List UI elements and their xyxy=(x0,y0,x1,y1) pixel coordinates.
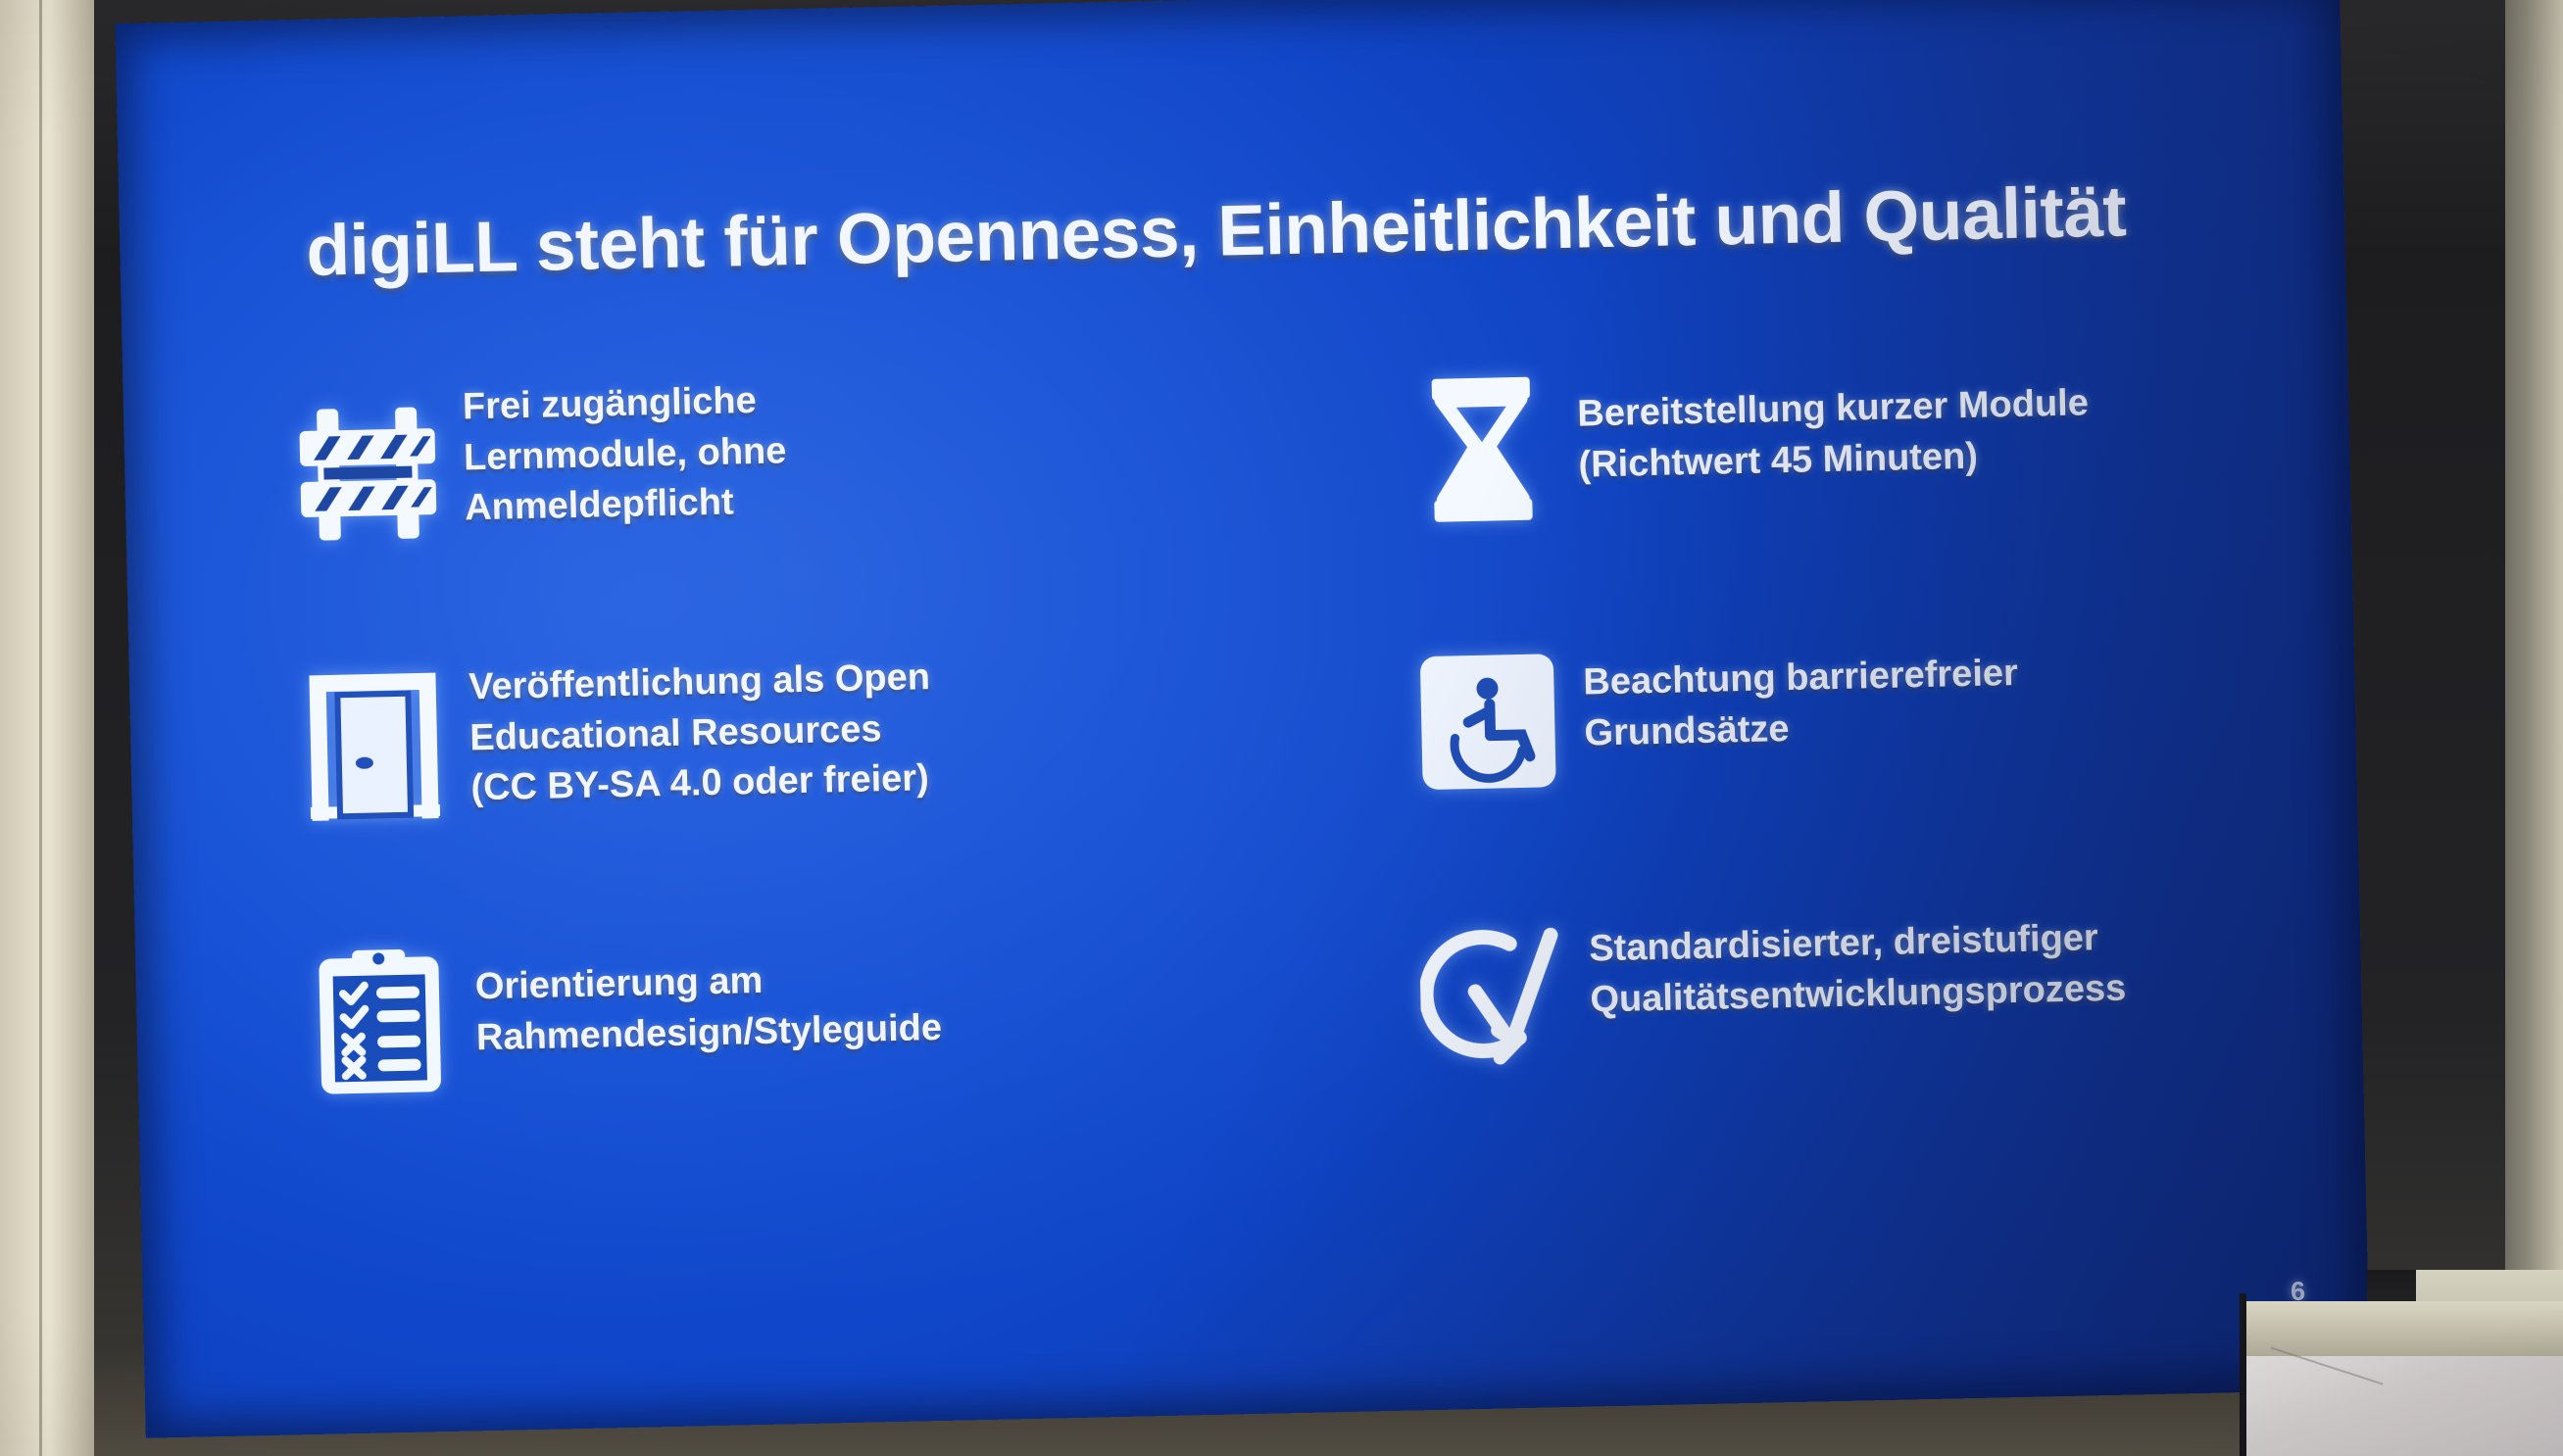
road-barrier-icon xyxy=(270,380,466,566)
feature-item-quality-process: Standardisierter, dreistufiger Qualitäts… xyxy=(1325,886,2296,1179)
feature-text: Beachtung barrierefreier Grundsätze xyxy=(1582,613,2288,759)
feature-text: Standardisierter, dreistufiger Qualitäts… xyxy=(1588,886,2293,1026)
feature-item-oer-license: Veröffentlichung als Open Educational Re… xyxy=(276,636,1248,929)
feature-item-open-access: Frei zugängliche Lernmodule, ohne Anmeld… xyxy=(270,364,1241,656)
feature-text: Frei zugängliche Lernmodule, ohne Anmeld… xyxy=(462,364,1238,534)
slide-canvas: digiLL steht für Openness, Einheitlichke… xyxy=(115,0,2370,1438)
flipchart-top-notch xyxy=(2367,1270,2563,1305)
slide-title: digiLL steht für Openness, Einheitlichke… xyxy=(306,170,2267,289)
cycle-checkmark-icon xyxy=(1396,901,1592,1088)
wall-seam xyxy=(39,0,42,1456)
clipboard-checklist-icon xyxy=(282,925,478,1111)
hourglass-icon xyxy=(1384,357,1580,543)
photo-of-presentation-screen: digiLL steht für Openness, Einheitlichke… xyxy=(0,0,2563,1456)
flipchart-foreground xyxy=(2240,1270,2563,1456)
room-wall-right xyxy=(2502,0,2563,1456)
feature-item-styleguide: Orientierung am Rahmendesign/Styleguide xyxy=(282,908,1254,1201)
feature-text: Orientierung am Rahmendesign/Styleguide xyxy=(474,908,1251,1064)
projected-slide: digiLL steht für Openness, Einheitlichke… xyxy=(115,0,2370,1438)
room-wall-left xyxy=(0,0,94,1456)
paper-fold-crease xyxy=(2257,1347,2384,1429)
feature-item-accessibility: Beachtung barrierefreier Grundsätze xyxy=(1319,613,2291,906)
flipchart-top-sheet xyxy=(2416,1270,2563,1305)
flipchart-paper xyxy=(2243,1356,2563,1456)
feature-grid: Frei zugängliche Lernmodule, ohne Anmeld… xyxy=(270,341,2296,1202)
flipchart-edge xyxy=(2240,1293,2246,1456)
feature-text: Bereitstellung kurzer Module (Richtwert … xyxy=(1576,341,2282,491)
open-door-icon xyxy=(276,653,472,839)
feature-item-short-modules: Bereitstellung kurzer Module (Richtwert … xyxy=(1313,341,2285,634)
feature-text: Veröffentlichung als Open Educational Re… xyxy=(468,636,1244,814)
wheelchair-accessibility-icon xyxy=(1390,629,1586,815)
